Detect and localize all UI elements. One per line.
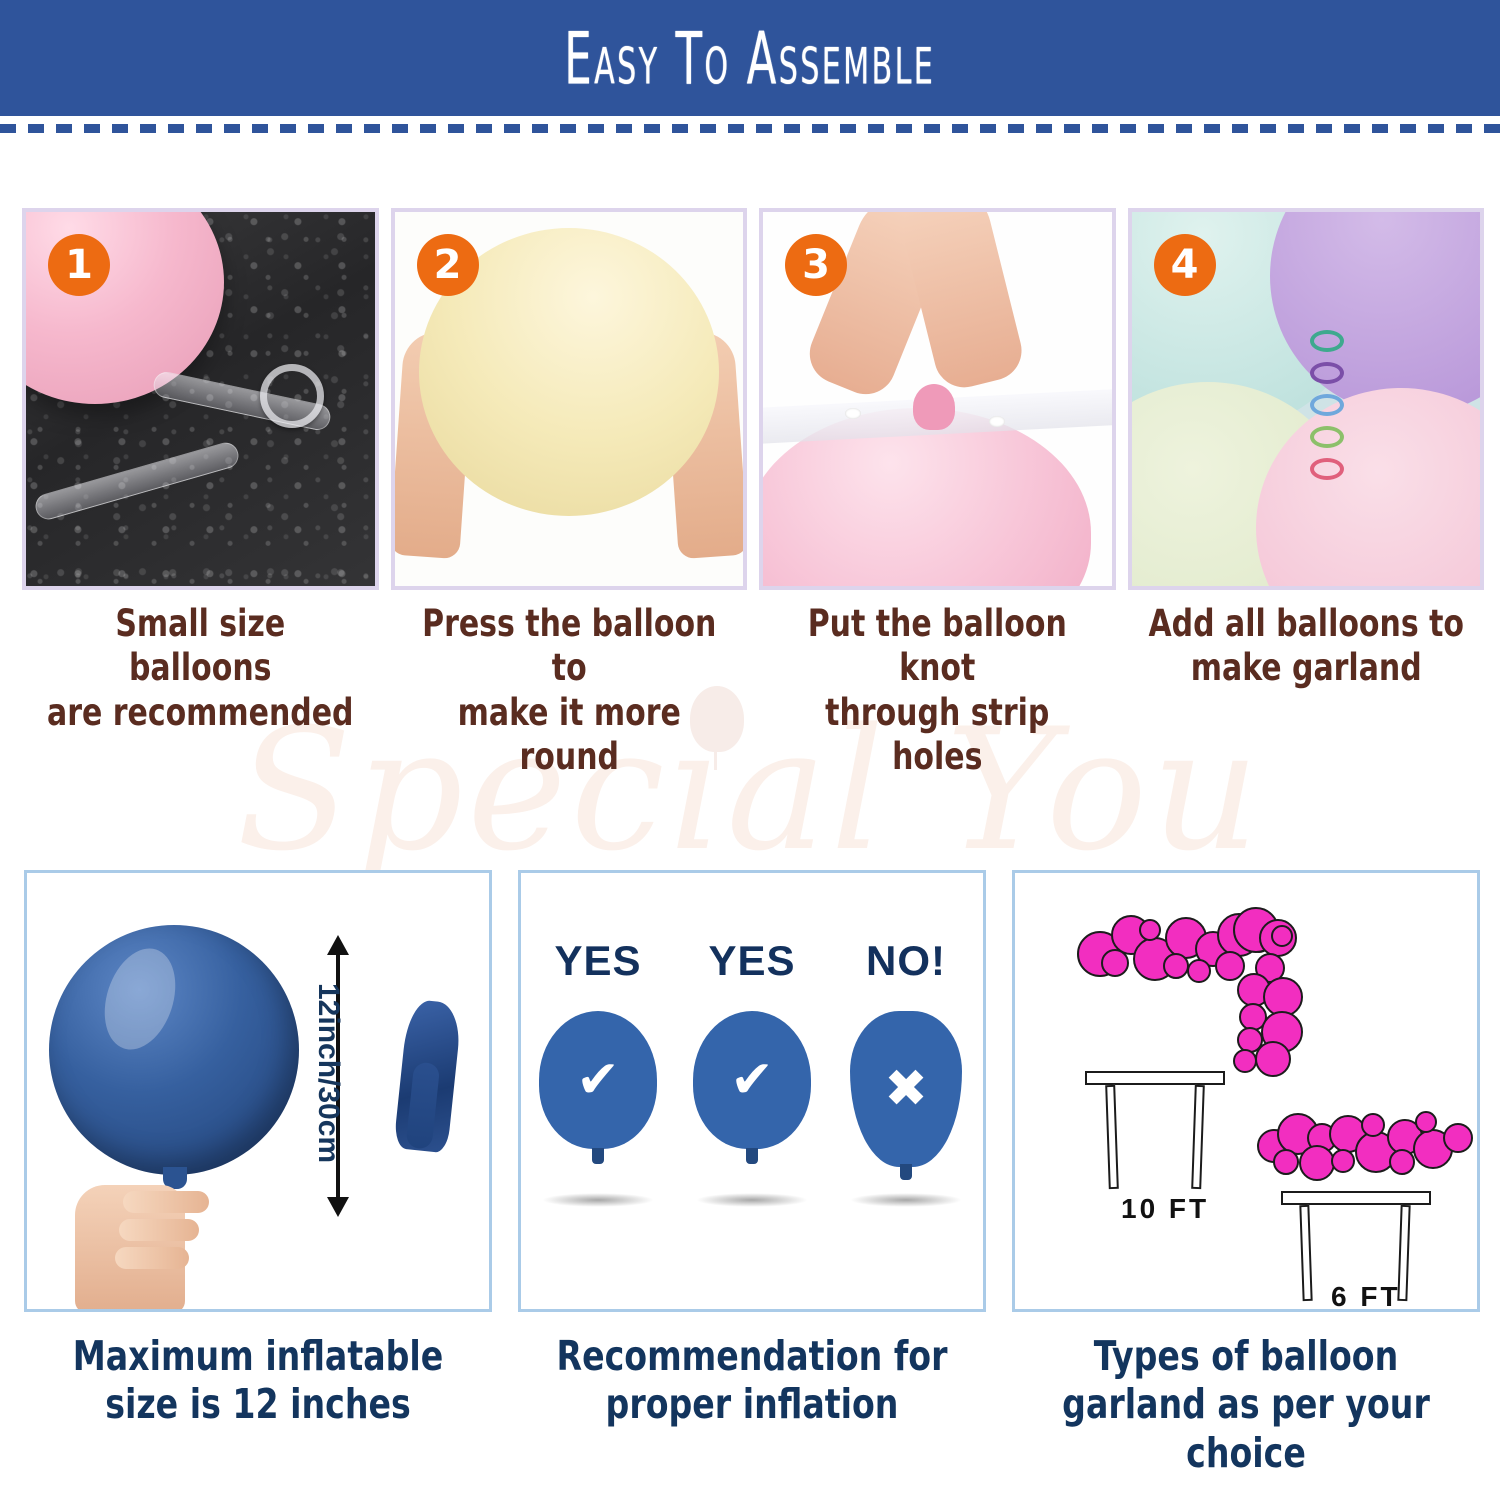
balloon-cross: ✖ [850, 1011, 962, 1167]
blue-balloon [49, 925, 299, 1175]
table-leg [1191, 1085, 1205, 1189]
header-band: Easy To Assemble [0, 0, 1500, 116]
step-card-2: 2 [391, 208, 748, 590]
finger [119, 1219, 199, 1241]
panel-caption-2-line2: proper inflation [541, 1380, 962, 1428]
steps-row: 1 2 3 [22, 208, 1484, 590]
step-caption-4-line1: Add all balloons to [1145, 602, 1466, 646]
table-top [1281, 1191, 1431, 1205]
option-yes-1: YES ✔ [528, 937, 668, 1207]
table-label-10ft: 10 FT [1121, 1193, 1209, 1225]
option-label: YES [528, 937, 668, 985]
garland-balloon [1163, 953, 1189, 979]
garland-balloon [1187, 959, 1211, 983]
balloon-knot [913, 384, 955, 430]
panel-max-size: 12inch/30cm [24, 870, 492, 1312]
knot-pink [1310, 458, 1344, 480]
size-label: 12inch/30cm [311, 983, 345, 1163]
balloon-shadow [850, 1193, 962, 1207]
table-10ft [1085, 1071, 1225, 1187]
knot-purple [1310, 362, 1344, 384]
check-icon: ✔ [730, 1054, 774, 1106]
step-caption-2-line1: Press the balloon to [408, 602, 729, 691]
option-yes-2: YES ✔ [682, 937, 822, 1207]
panel-caption-3-line2: garland as per your choice [1035, 1380, 1456, 1477]
inflation-options: YES ✔ YES ✔ NO! ✖ [521, 937, 983, 1207]
table-top [1085, 1071, 1225, 1085]
check-icon: ✔ [576, 1054, 620, 1106]
garland-balloon [1255, 1041, 1291, 1077]
step-badge-3: 3 [785, 234, 847, 296]
garland-balloon [1233, 1049, 1257, 1073]
knot-blue [1310, 394, 1344, 416]
panel-caption-1-line1: Maximum inflatable [47, 1332, 468, 1380]
step-badge-1: 1 [48, 234, 110, 296]
dashed-divider [0, 124, 1500, 133]
option-label: YES [682, 937, 822, 985]
step-badge-4: 4 [1154, 234, 1216, 296]
garland-balloon [1389, 1149, 1415, 1175]
info-panels-row: 12inch/30cm YES ✔ YES ✔ [24, 870, 1480, 1312]
garland-balloon [1415, 1111, 1437, 1133]
panel-caption-1: Maximum inflatable size is 12 inches [47, 1332, 468, 1477]
balloon-shadow [542, 1193, 654, 1207]
step-caption-3-line2: through strip holes [777, 691, 1098, 780]
balloon-neck [592, 1148, 604, 1164]
knot-lightgreen [1310, 426, 1344, 448]
balloon-check-1: ✔ [539, 1011, 657, 1149]
option-label: NO! [836, 937, 976, 985]
finger [115, 1247, 189, 1269]
panel-caption-2: Recommendation for proper inflation [541, 1332, 962, 1477]
knot-green [1310, 330, 1344, 352]
garland-balloon [1299, 1145, 1335, 1181]
garland-balloon [1139, 919, 1161, 941]
table-label-6ft: 6 FT [1331, 1281, 1401, 1312]
step-caption-4: Add all balloons to make garland [1145, 602, 1466, 780]
panel-caption-3-line1: Types of balloon [1035, 1332, 1456, 1380]
garland-balloon [1271, 925, 1293, 947]
step-caption-1-line1: Small size balloons [40, 602, 361, 691]
garland-balloon [1361, 1113, 1385, 1137]
clear-balloon-coil [260, 364, 324, 428]
balloon-neck [746, 1148, 758, 1164]
deflated-balloon [393, 999, 462, 1154]
step-card-3: 3 [759, 208, 1116, 590]
garland-balloon [1273, 1149, 1299, 1175]
balloon-shadow [696, 1193, 808, 1207]
strip-hole [845, 408, 861, 419]
garland-balloon [1215, 951, 1245, 981]
page-title: Easy To Assemble [565, 16, 936, 101]
panel-caption-1-line2: size is 12 inches [47, 1380, 468, 1428]
option-no: NO! ✖ [836, 937, 976, 1207]
step-caption-3: Put the balloon knot through strip holes [777, 602, 1098, 780]
garland-balloon [1443, 1123, 1473, 1153]
table-leg [1299, 1205, 1312, 1301]
step-card-4: 4 [1128, 208, 1485, 590]
panel-garland-types: 10 FT 6 FT [1012, 870, 1480, 1312]
step-caption-3-line1: Put the balloon knot [777, 602, 1098, 691]
panel-inflation-recommendation: YES ✔ YES ✔ NO! ✖ [518, 870, 986, 1312]
step-caption-2: Press the balloon to make it more round [408, 602, 729, 780]
step-caption-1: Small size balloons are recommended [40, 602, 361, 780]
balloon-neck [900, 1164, 912, 1180]
strip-hole [989, 416, 1005, 427]
balloon-check-2: ✔ [693, 1011, 811, 1149]
step-caption-4-line2: make garland [1145, 646, 1466, 690]
panel-caption-3: Types of balloon garland as per your cho… [1035, 1332, 1456, 1477]
step-badge-2: 2 [417, 234, 479, 296]
step-caption-2-line2: make it more round [408, 691, 729, 780]
garland-balloon [1331, 1149, 1355, 1173]
finger [123, 1191, 209, 1213]
step-caption-1-line2: are recommended [40, 691, 361, 735]
garland-balloon [1101, 949, 1129, 977]
step-captions-row: Small size balloons are recommended Pres… [22, 602, 1484, 780]
panel-captions-row: Maximum inflatable size is 12 inches Rec… [24, 1332, 1480, 1477]
arrow-head-down-icon [327, 1197, 349, 1217]
step-card-1: 1 [22, 208, 379, 590]
panel-caption-2-line1: Recommendation for [541, 1332, 962, 1380]
cross-icon: ✖ [884, 1063, 928, 1115]
table-leg [1105, 1085, 1119, 1189]
